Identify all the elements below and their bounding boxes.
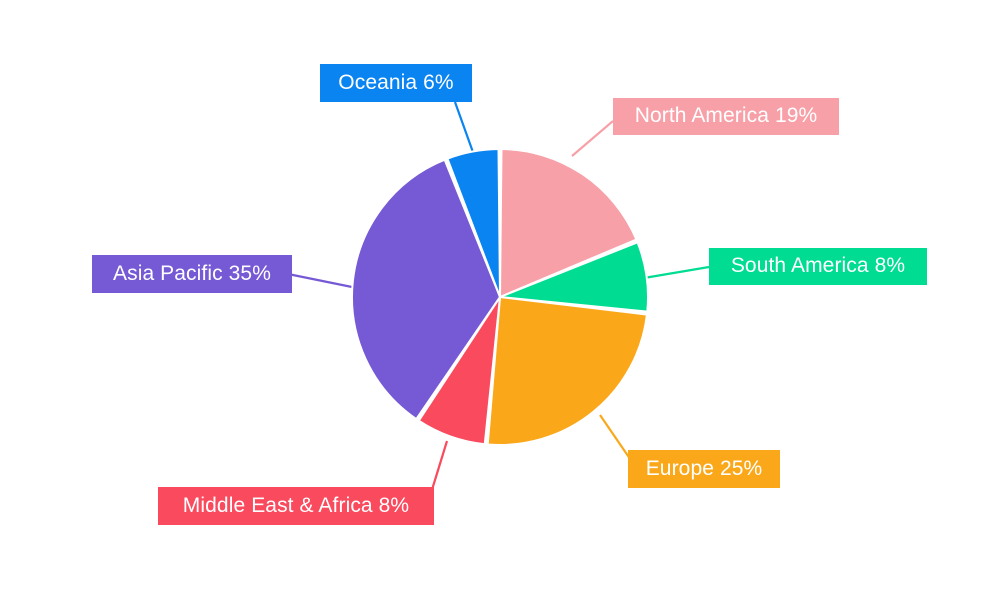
pie-slice[interactable]	[488, 297, 647, 445]
pie-slice-label[interactable]: Europe 25%	[628, 450, 780, 488]
pie-leader-line	[288, 274, 352, 287]
pie-slice-label[interactable]: Oceania 6%	[320, 64, 472, 102]
pie-slice-label[interactable]: Asia Pacific 35%	[92, 255, 292, 293]
pie-chart-canvas	[0, 0, 1000, 600]
pie-slice-label[interactable]: Middle East & Africa 8%	[158, 487, 434, 525]
pie-slice-label[interactable]: South America 8%	[709, 248, 927, 285]
pie-leader-line	[572, 121, 613, 156]
pie-chart: North America 19%South America 8%Europe …	[0, 0, 1000, 600]
pie-slice-group	[352, 149, 648, 445]
pie-leader-line	[455, 102, 474, 155]
pie-slice-label[interactable]: North America 19%	[613, 98, 839, 135]
pie-leader-line	[644, 267, 709, 278]
